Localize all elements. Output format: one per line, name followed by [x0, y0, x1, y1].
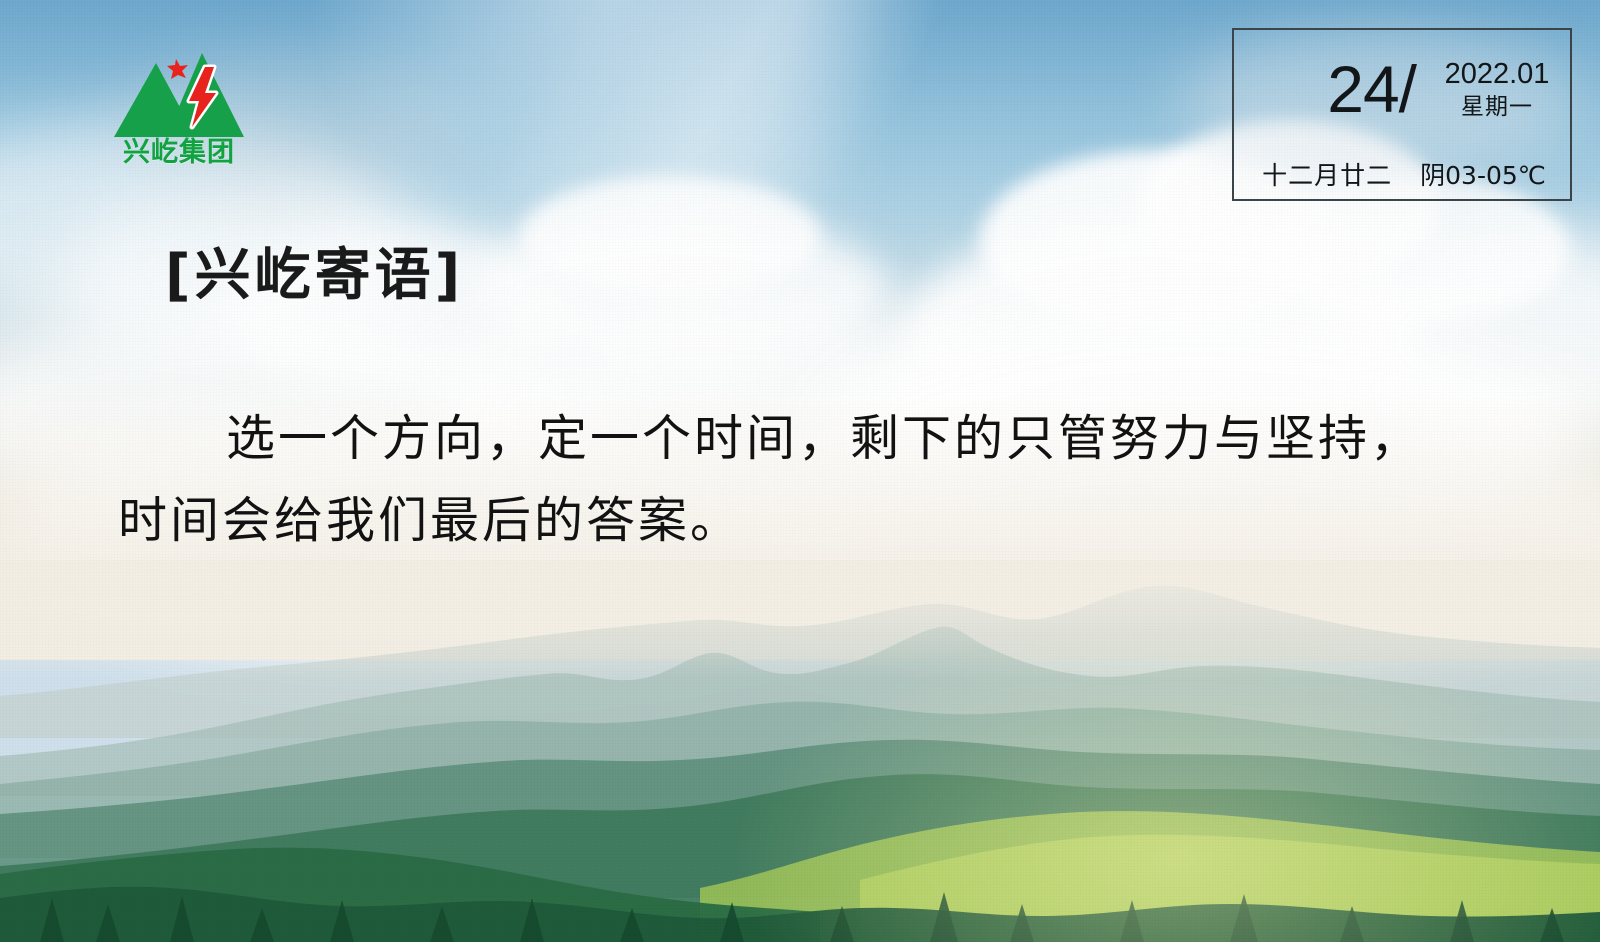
company-logo[interactable]: 兴屹集团 — [104, 45, 254, 175]
page-title: [兴屹寄语] — [165, 248, 464, 304]
company-name-text: 兴屹集团 — [104, 139, 254, 166]
lunar-date: 十二月廿二 — [1262, 156, 1392, 192]
year-month: 2022.01 — [1420, 57, 1574, 92]
daily-message-poster: 兴屹集团 24/ 2022.01 星期一 十二月廿二 阴03-05℃ [兴屹寄语… — [0, 0, 1600, 942]
day-number: 24/ — [1234, 56, 1420, 122]
logo-mountain-mark — [104, 45, 254, 145]
date-card-bottom-row: 十二月廿二 阴03-05℃ — [1234, 148, 1574, 199]
date-card-top-row: 24/ 2022.01 星期一 — [1234, 30, 1574, 148]
red-star-icon — [167, 59, 188, 79]
day-value: 24 — [1327, 52, 1398, 126]
mountain-landscape — [0, 560, 1600, 942]
date-card-right-column: 2022.01 星期一 — [1420, 57, 1574, 120]
day-slash: / — [1399, 52, 1416, 126]
date-card: 24/ 2022.01 星期一 十二月廿二 阴03-05℃ — [1232, 28, 1572, 201]
weekday: 星期一 — [1420, 93, 1574, 121]
quote-line-1: 选一个方向，定一个时间，剩下的只管努力与坚持， — [118, 398, 1518, 480]
weather-temperature: 阴03-05℃ — [1420, 156, 1546, 192]
conifer-silhouettes — [0, 878, 1600, 942]
quote-block: 选一个方向，定一个时间，剩下的只管努力与坚持， 时间会给我们最后的答案。 — [118, 398, 1518, 562]
quote-line-2: 时间会给我们最后的答案。 — [118, 480, 1518, 562]
